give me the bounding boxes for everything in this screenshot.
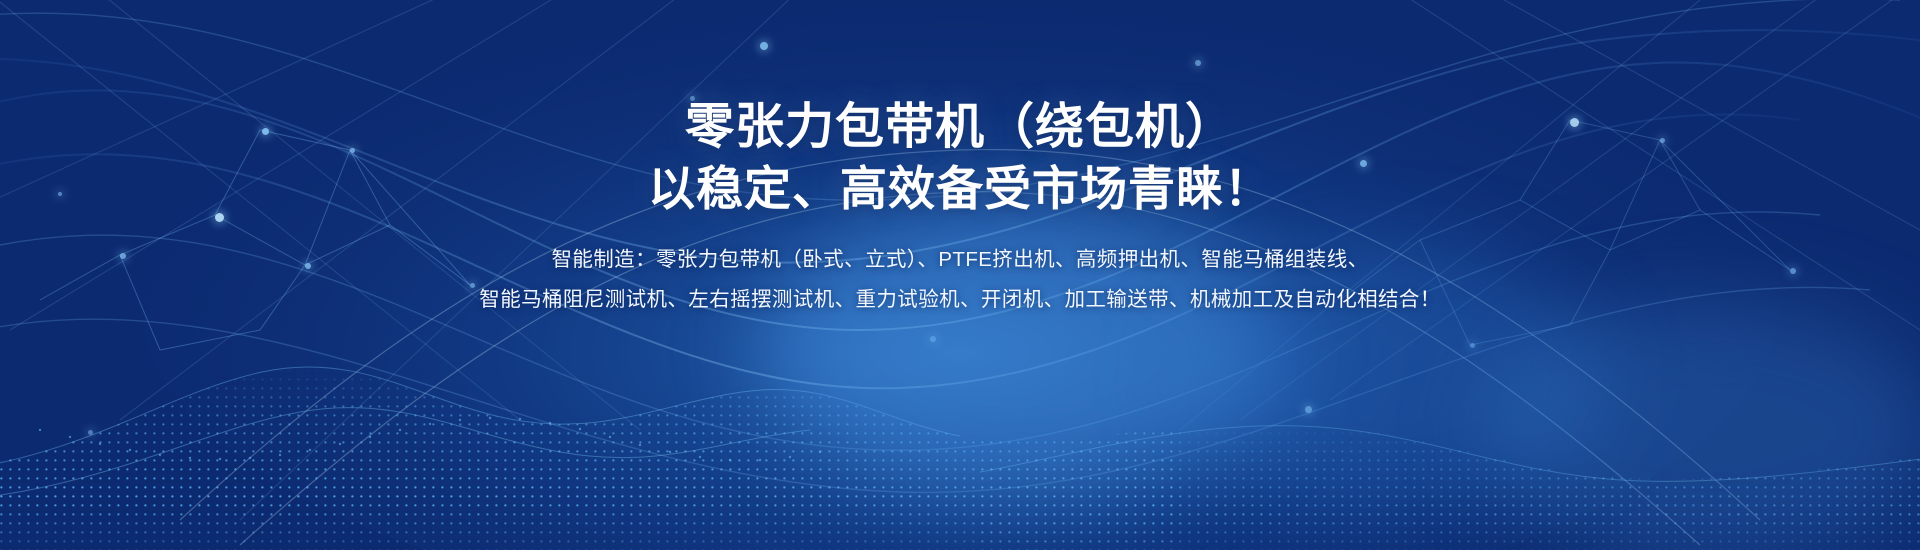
banner-text-block: 零张力包带机（绕包机） 以稳定、高效备受市场青睐！ 智能制造：零张力包带机（卧式…	[0, 96, 1920, 320]
hero-banner: 零张力包带机（绕包机） 以稳定、高效备受市场青睐！ 智能制造：零张力包带机（卧式…	[0, 0, 1920, 550]
banner-subtitle-line-2: 智能马桶阻尼测试机、左右摇摆测试机、重力试验机、开闭机、加工输送带、机械加工及自…	[0, 280, 1920, 320]
banner-title-line-1: 零张力包带机（绕包机）	[0, 96, 1920, 158]
banner-subtitle-block: 智能制造：零张力包带机（卧式、立式）、PTFE挤出机、高频押出机、智能马桶组装线…	[0, 240, 1920, 320]
banner-subtitle-line-1: 智能制造：零张力包带机（卧式、立式）、PTFE挤出机、高频押出机、智能马桶组装线…	[0, 240, 1920, 280]
banner-title-line-2: 以稳定、高效备受市场青睐！	[0, 158, 1920, 220]
